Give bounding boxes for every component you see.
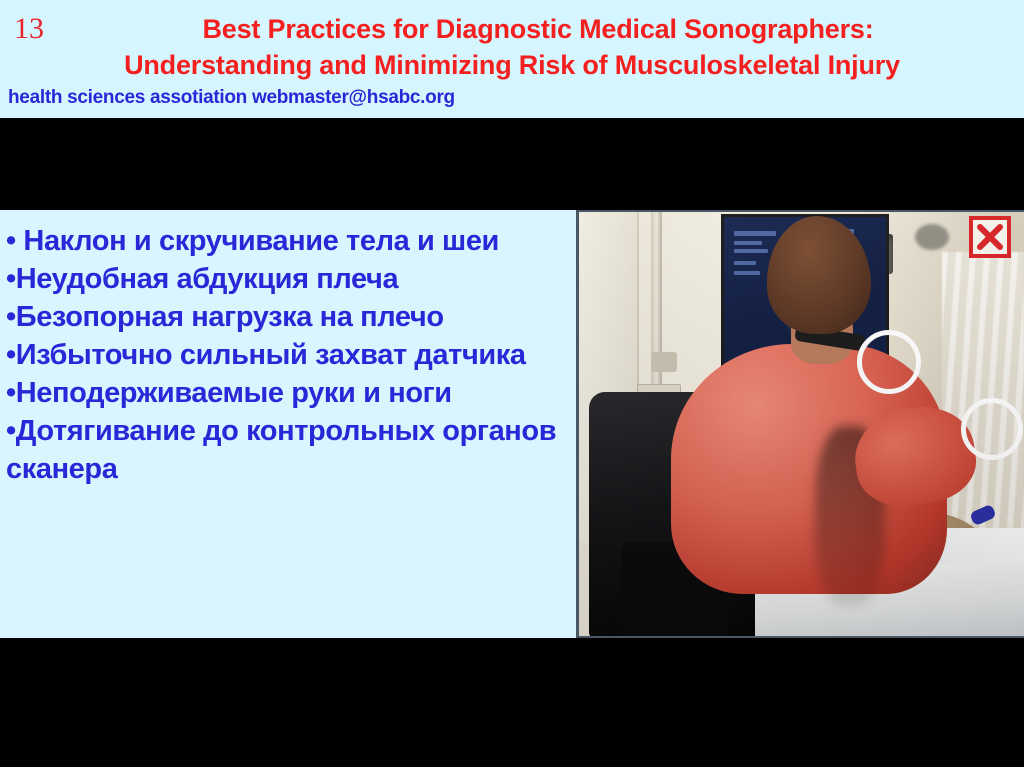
photo-frame — [576, 210, 1024, 638]
title-line-2: Understanding and Minimizing Risk of Mus… — [0, 47, 1024, 83]
slide-title: Best Practices for Diagnostic Medical So… — [0, 11, 1024, 83]
bullet-item: • Наклон и скручивание тела и шеи — [6, 222, 558, 260]
hand-highlight-circle — [961, 398, 1023, 460]
bullet-item: •Безопорная нагрузка на плечо — [6, 298, 558, 336]
shoulder-highlight-circle — [857, 330, 921, 394]
bullet-list: • Наклон и скручивание тела и шеи •Неудо… — [0, 212, 562, 488]
title-line-1: Best Practices for Diagnostic Medical So… — [0, 11, 1024, 47]
bullet-item: •Неудобная абдукция плеча — [6, 260, 558, 298]
bullet-item: •Неподерживаемые руки и ноги — [6, 374, 558, 412]
bullet-item: •Дотягивание до контрольных органов скан… — [6, 412, 558, 488]
bullet-item: •Избыточно сильный захват датчика — [6, 336, 558, 374]
broken-image-x-icon — [969, 216, 1011, 258]
sonographer-photo — [579, 212, 1024, 636]
wall-bracket-upper — [651, 352, 677, 372]
contact-subtitle: health sciences assotiation webmaster@hs… — [8, 86, 455, 110]
presentation-slide: 13 Best Practices for Diagnostic Medical… — [0, 0, 1024, 767]
wall-equipment — [915, 224, 949, 250]
slide-header: 13 Best Practices for Diagnostic Medical… — [0, 0, 1024, 118]
